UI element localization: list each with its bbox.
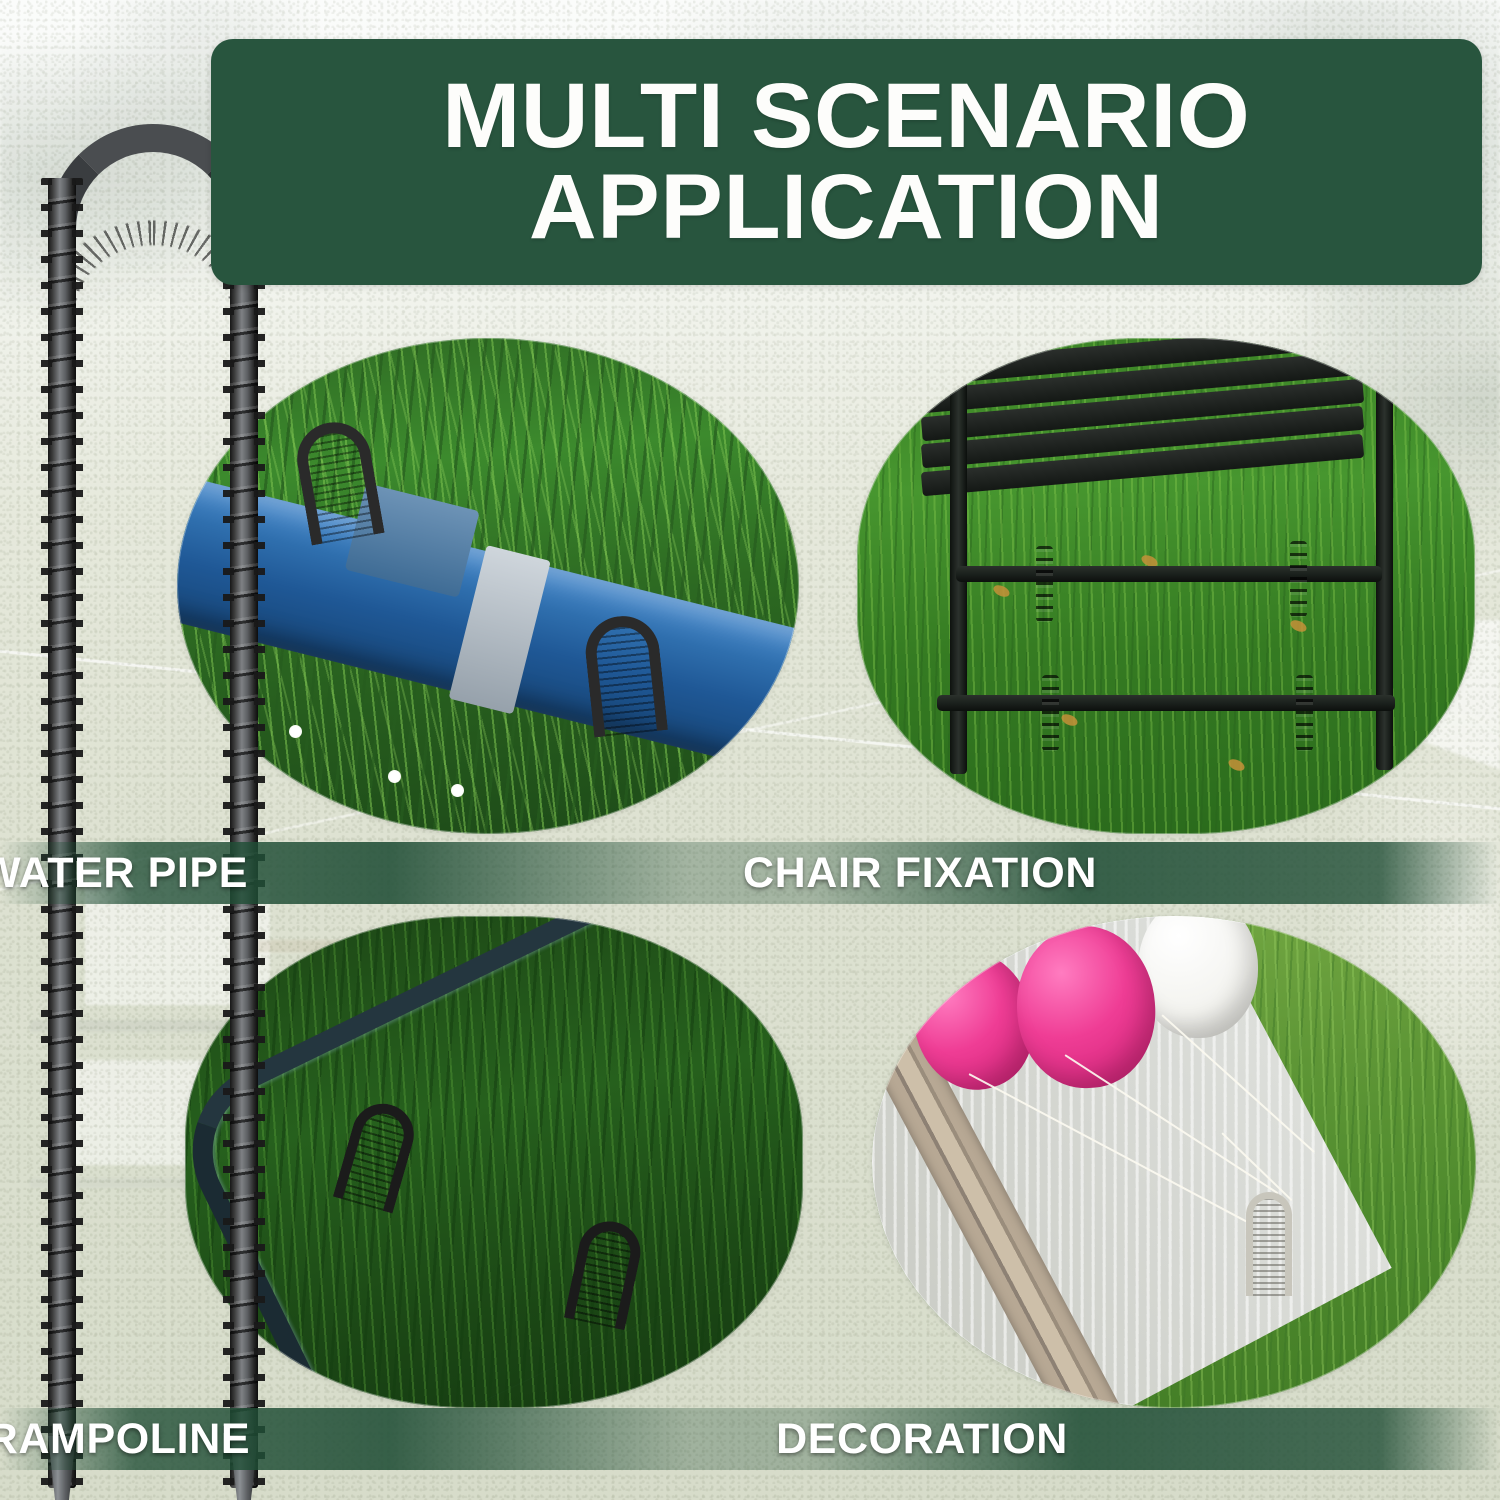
caption-waterpipe: WATER PIPE: [0, 849, 489, 898]
caption-band-row-2: TRAMPOLINE DECORATION: [0, 1408, 1500, 1470]
page-title: MULTI SCENARIO APPLICATION: [416, 71, 1277, 253]
rebar-stake-icon: [1036, 546, 1053, 622]
daisy-flower: [289, 725, 302, 738]
caption-band-row-1: WATER PIPE CHAIR FIXATION: [0, 842, 1500, 904]
stake-right-leg: [230, 178, 258, 1488]
scene-decoration: [872, 916, 1476, 1408]
stake-nubs-left: [41, 178, 52, 1488]
panel-photo-chair[interactable]: [857, 338, 1475, 834]
scene-chair: [857, 338, 1475, 834]
caption-chair: CHAIR FIXATION: [545, 849, 1295, 898]
panel-photo-trampoline[interactable]: [185, 916, 803, 1408]
scene-trampoline: [185, 916, 803, 1408]
rebar-stake-icon: [1290, 541, 1307, 617]
stake-left-leg: [48, 178, 76, 1488]
caption-trampoline: TRAMPOLINE: [0, 1415, 480, 1464]
rebar-stake-icon: [1296, 675, 1313, 751]
daisy-flower: [451, 784, 464, 797]
stake-nubs-right: [72, 178, 83, 1488]
bench-cross-rail: [956, 566, 1382, 582]
panel-photo-decoration[interactable]: [872, 916, 1476, 1408]
stake-nubs-left: [223, 178, 234, 1488]
bench-base-rail: [937, 695, 1394, 711]
scene-waterpipe: [177, 338, 799, 834]
rebar-stake-icon: [1246, 1192, 1292, 1296]
header-banner: MULTI SCENARIO APPLICATION: [211, 39, 1482, 285]
caption-decoration: DECORATION: [547, 1415, 1297, 1464]
stake-nubs-right: [254, 178, 265, 1488]
daisy-flower: [388, 770, 401, 783]
panel-photo-waterpipe[interactable]: [177, 338, 799, 834]
rebar-stake-icon: [1042, 675, 1059, 751]
